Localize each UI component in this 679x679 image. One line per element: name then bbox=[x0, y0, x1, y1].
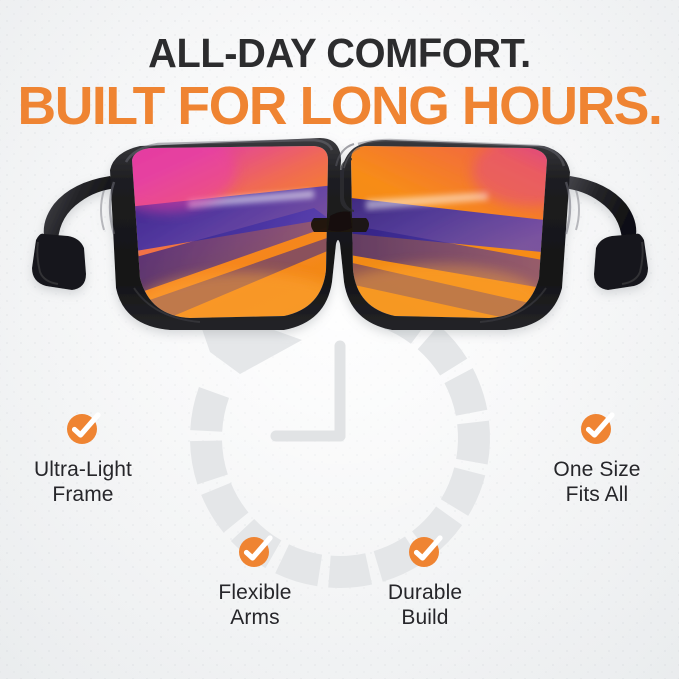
check-circle-icon bbox=[577, 408, 617, 448]
feature-label: Durable Build bbox=[340, 580, 510, 630]
check-circle-icon bbox=[235, 531, 275, 571]
check-circle-icon bbox=[63, 408, 103, 448]
headline-line-2: BUILT FOR LONG HOURS. bbox=[3, 78, 675, 134]
feature-flexible-arms: Flexible Arms bbox=[170, 531, 340, 630]
product-infographic: Ultra-Light Frame One Size Fits All Flex… bbox=[0, 0, 679, 679]
feature-one-size-fits-all: One Size Fits All bbox=[512, 408, 679, 507]
feature-label: One Size Fits All bbox=[512, 457, 679, 507]
feature-label: Flexible Arms bbox=[170, 580, 340, 630]
feature-durable-build: Durable Build bbox=[340, 531, 510, 630]
feature-ultra-light-frame: Ultra-Light Frame bbox=[0, 408, 168, 507]
feature-label: Ultra-Light Frame bbox=[0, 457, 168, 507]
headline-line-1: ALL-DAY COMFORT. bbox=[10, 30, 669, 76]
headline-block: ALL-DAY COMFORT. BUILT FOR LONG HOURS. bbox=[0, 30, 679, 134]
check-circle-icon bbox=[405, 531, 445, 571]
glasses-product-image bbox=[14, 112, 665, 344]
